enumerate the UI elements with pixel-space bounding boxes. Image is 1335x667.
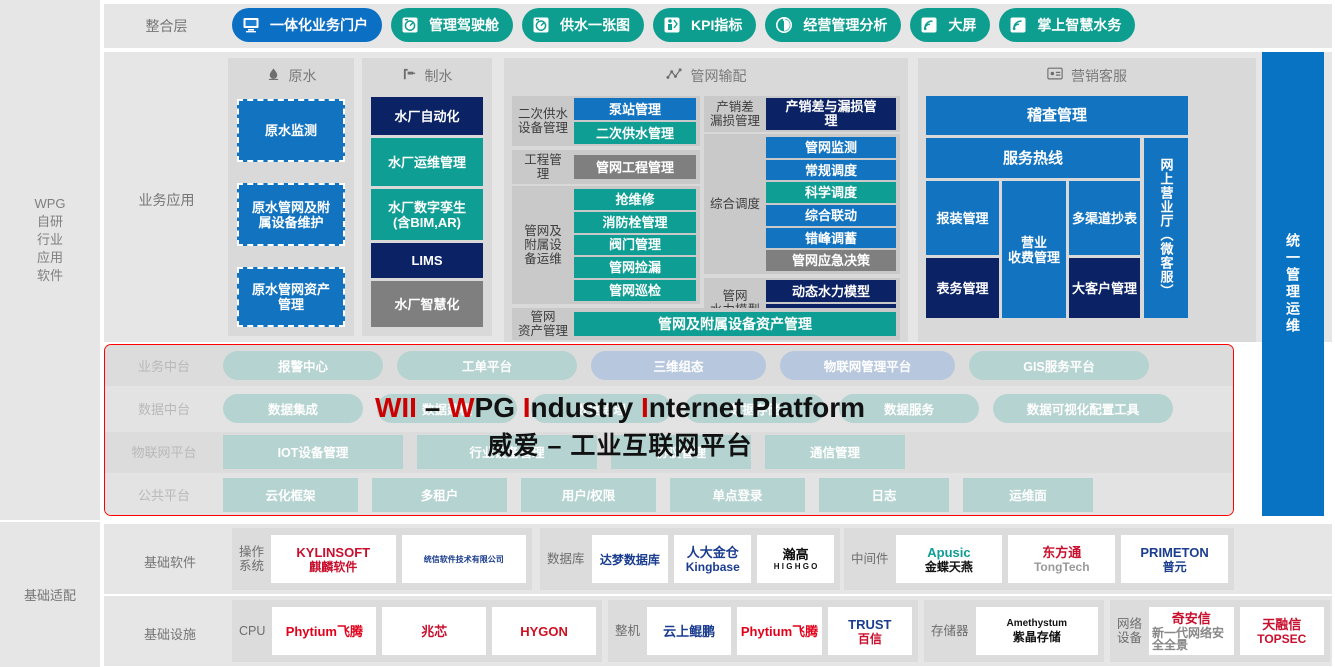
pipe-item-peak-shift[interactable]: 错峰调蓄 <box>766 228 896 249</box>
foundation-group-0-2-label: 中间件 <box>844 552 896 566</box>
service-icon <box>1047 67 1063 85</box>
raw-water-item-2[interactable]: 原水管网资产管理 <box>237 267 345 327</box>
amethystum-logo-line1: Amethystum <box>1006 619 1067 629</box>
monitor-icon <box>239 13 263 37</box>
foundation-group-1-3-label: 网络设备 <box>1110 617 1149 645</box>
pipe-item-peak-shift-label: 错峰调蓄 <box>805 231 857 246</box>
left-rail-wpg: WPG自研行业应用软件 <box>0 0 100 520</box>
yunshang-pengpeng-logo: 云上鲲鹏 <box>647 607 731 655</box>
column-pipe-network: 管网输配 二次供水设备管理 泵站管理 二次供水管理 工程管理 管网工程管理 管网… <box>504 58 908 342</box>
platform-item-3-1[interactable]: 多租户 <box>372 478 507 512</box>
topsec-logo-line2: TOPSEC <box>1257 633 1306 645</box>
foundation-rail-label: 基础适配 <box>24 585 76 604</box>
water-production-item-3[interactable]: LIMS <box>371 243 483 278</box>
left-rail-wpg-label: WPG自研行业应用软件 <box>0 195 100 285</box>
dameng-logo-line2: 达梦数据库 <box>600 554 660 566</box>
platform-row-2-label: 物联网平台 <box>105 442 223 461</box>
ms-item-audit[interactable]: 稽查管理 <box>926 96 1188 135</box>
phytium-logo: Phytium飞腾 <box>272 607 376 655</box>
foundation-group-1-0: CPUPhytium飞腾兆芯HYGON <box>232 600 602 662</box>
column-pipe-network-header: 管网输配 <box>504 58 908 94</box>
platform-item-0-1[interactable]: 工单平台 <box>397 351 577 380</box>
column-pipe-network-title: 管网输配 <box>691 66 747 86</box>
pipe-item-emergency[interactable]: 管网应急决策 <box>766 250 896 271</box>
pipe-item-valve-label: 阀门管理 <box>609 237 661 252</box>
analysis-icon <box>772 13 796 37</box>
ms-item-meter[interactable]: 表务管理 <box>926 258 999 318</box>
pipe-item-leak-label: 管网捡漏 <box>609 260 661 275</box>
water-production-item-4[interactable]: 水厂智慧化 <box>371 281 483 327</box>
network-icon <box>666 67 683 86</box>
kingbase-logo-line1: 人大金仓 <box>687 546 739 559</box>
pipe-item-hydrant-label: 消防栓管理 <box>602 215 667 230</box>
topsec-logo: 天融信TOPSEC <box>1240 607 1325 655</box>
hygon-logo-line1: HYGON <box>520 625 568 638</box>
platform-row-1-label: 数据中台 <box>105 399 223 418</box>
unionTech-logo: 统信软件技术有限公司 <box>402 535 527 583</box>
foundation-group-1-1: 整机云上鲲鹏Phytium飞腾TRUST百信 <box>608 600 918 662</box>
foundation-group-1-2-label: 存储器 <box>924 624 976 638</box>
foundation-group-0-2: 中间件Apusic金蝶天燕东方通TongTechPRIMETON普元 <box>844 528 1234 590</box>
integration-button-2[interactable]: 供水一张图 <box>522 8 644 42</box>
integration-button-3[interactable]: KPI指标 <box>653 8 756 42</box>
column-raw-water: 原水 原水监测 原水管网及附属设备维护 原水管网资产管理 <box>228 58 354 336</box>
pipe-group-dispatch-name: 综合调度 <box>704 134 766 274</box>
ms-item-multichannel-label: 多渠道抄表 <box>1072 211 1137 226</box>
column-marketing-service: 营销客服 稽查管理 服务热线 报装管理 表务管理 营业收费管理 多渠道抄表 大客… <box>918 58 1256 342</box>
water-production-item-2[interactable]: 水厂数字孪生(含BIM,AR) <box>371 189 483 240</box>
pipe-item-linkage[interactable]: 综合联动 <box>766 205 896 226</box>
pipe-group-asset: 管网资产管理 管网及附属设备资产管理 <box>512 308 900 340</box>
pipe-item-nrw[interactable]: 产销差与漏损管理 <box>766 98 896 130</box>
tongtech-logo-line1: 东方通 <box>1042 546 1081 559</box>
unified-ops-bar: 统一管理运维 <box>1262 52 1324 516</box>
water-production-item-2-label: 水厂数字孪生(含BIM,AR) <box>388 200 466 230</box>
platform-row-0: 业务中台报警中心工单平台三维组态物联网管理平台GIS服务平台 <box>105 345 1234 386</box>
integration-button-5[interactable]: 大屏 <box>910 8 990 42</box>
raw-water-item-0-label: 原水监测 <box>265 123 317 138</box>
water-production-item-0-label: 水厂自动化 <box>394 109 459 124</box>
foundation-group-1-3: 网络设备奇安信新一代网络安全全景天融信TOPSEC <box>1110 600 1330 662</box>
hygon-logo: HYGON <box>492 607 596 655</box>
platform-row-3-label: 公共平台 <box>105 485 223 504</box>
trust-baixin-logo-line1: TRUST <box>848 618 891 631</box>
pipe-item-scientific-dispatch[interactable]: 科学调度 <box>766 182 896 203</box>
platform-item-1-1[interactable]: 数据建模 <box>377 394 517 423</box>
platform-item-3-5[interactable]: 运维面 <box>963 478 1093 512</box>
ms-item-key-account[interactable]: 大客户管理 <box>1069 258 1140 318</box>
platform-item-0-4[interactable]: GIS服务平台 <box>969 351 1149 380</box>
foundation-group-0-1: 数据库达梦数据库人大金仓Kingbase瀚高H I G H G O <box>540 528 840 590</box>
pipe-group-nrw: 产销差漏损管理 产销差与漏损管理 <box>704 96 900 132</box>
platform-item-0-3[interactable]: 物联网管理平台 <box>780 351 955 380</box>
water-production-item-1-label: 水厂运维管理 <box>388 155 466 170</box>
integration-button-6-label: 掌上智慧水务 <box>1037 15 1121 35</box>
highgo-logo: 瀚高H I G H G O <box>757 535 834 583</box>
apusic-logo-line1: Apusic <box>927 546 970 559</box>
ms-item-online-hall[interactable]: 网上营业厅（微客服） <box>1144 138 1188 318</box>
raw-water-item-0[interactable]: 原水监测 <box>237 99 345 162</box>
foundation-rail: 基础适配 <box>0 522 100 667</box>
platform-item-1-3[interactable]: 数据存储 <box>685 394 825 423</box>
ms-item-install-label: 报装管理 <box>936 211 988 226</box>
integration-button-0-label: 一体化业务门户 <box>270 15 368 35</box>
platform-item-1-2[interactable]: 数据治理 <box>531 394 671 423</box>
pipe-item-hydrant[interactable]: 消防栓管理 <box>574 212 696 233</box>
platform-item-2-3[interactable]: 通信管理 <box>765 435 905 469</box>
platform-row-2: 物联网平台IOT设备管理行业设备管理协议管理通信管理 <box>105 431 1234 472</box>
tongtech-logo-line2: TongTech <box>1034 561 1090 573</box>
wii-platform-panel: 用户服务及市场拓展部 业务中台报警中心工单平台三维组态物联网管理平台GIS服务平… <box>104 344 1234 516</box>
unified-ops-bar-label: 统一管理运维 <box>1283 233 1303 335</box>
platform-item-1-5[interactable]: 数据可视化配置工具 <box>993 394 1173 423</box>
zhaoxin-logo: 兆芯 <box>382 607 486 655</box>
highgo-logo-line2: H I G H G O <box>774 563 818 571</box>
foundation-group-0-0: 操作系统KYLINSOFT麒麟软件统信软件技术有限公司 <box>232 528 532 590</box>
platform-item-3-3[interactable]: 单点登录 <box>670 478 805 512</box>
pipe-item-scientific-dispatch-label: 科学调度 <box>805 185 857 200</box>
qianxin-logo-line1: 奇安信 <box>1172 612 1211 625</box>
integration-button-4-label: 经营管理分析 <box>803 15 887 35</box>
trust-baixin-logo-line2: 百信 <box>858 633 882 645</box>
foundation-group-0-1-label: 数据库 <box>540 552 592 566</box>
integration-button-6[interactable]: 掌上智慧水务 <box>999 8 1135 42</box>
raw-water-item-1-label: 原水管网及附属设备维护 <box>252 200 330 230</box>
highgo-logo-line1: 瀚高 <box>783 548 809 561</box>
pipe-item-leak[interactable]: 管网捡漏 <box>574 257 696 278</box>
integration-button-3-label: KPI指标 <box>691 15 742 35</box>
kingbase-logo: 人大金仓Kingbase <box>674 535 751 583</box>
pipe-item-pipe-engineering-label: 管网工程管理 <box>596 160 674 175</box>
qianxin-logo: 奇安信新一代网络安全全景 <box>1149 607 1234 655</box>
pipe-item-monitor-label: 管网监测 <box>805 140 857 155</box>
business-application-label: 业务应用 <box>104 190 229 210</box>
phytium-logo-2-line1: Phytium飞腾 <box>741 625 818 638</box>
kylinsoft-logo-line1: KYLINSOFT <box>296 546 370 559</box>
pipe-group-engineering-name: 工程管理 <box>512 150 574 184</box>
pipe-item-routine-dispatch[interactable]: 常规调度 <box>766 160 896 181</box>
pipe-item-secondary-supply-label: 二次供水管理 <box>596 126 674 141</box>
pipe-item-repair-label: 抢维修 <box>615 192 654 207</box>
water-production-item-3-label: LIMS <box>411 253 442 268</box>
apusic-logo-line2: 金蝶天燕 <box>925 561 973 573</box>
platform-row-1: 数据中台数据集成数据建模数据治理数据存储数据服务数据可视化配置工具 <box>105 388 1234 429</box>
dashboard-icon <box>398 13 422 37</box>
platform-row-0-label: 业务中台 <box>105 356 223 375</box>
pipe-item-pump-station[interactable]: 泵站管理 <box>574 98 696 120</box>
primeton-logo: PRIMETON普元 <box>1121 535 1228 583</box>
map-icon <box>529 13 553 37</box>
pipe-item-routine-dispatch-label: 常规调度 <box>805 163 857 178</box>
ms-item-hotline-label: 服务热线 <box>1003 151 1063 166</box>
ms-item-audit-label: 稽查管理 <box>1027 108 1087 123</box>
primeton-logo-line2: 普元 <box>1163 561 1187 573</box>
qianxin-logo-line2: 新一代网络安全全景 <box>1152 627 1231 651</box>
pipe-item-valve[interactable]: 阀门管理 <box>574 235 696 256</box>
integration-button-4[interactable]: 经营管理分析 <box>765 8 901 42</box>
pipe-item-monitor[interactable]: 管网监测 <box>766 137 896 158</box>
yunshang-pengpeng-logo-line1: 云上鲲鹏 <box>663 625 715 638</box>
pipe-item-secondary-supply[interactable]: 二次供水管理 <box>574 122 696 144</box>
mobile-icon <box>1006 13 1030 37</box>
pipe-item-dynamic-model[interactable]: 动态水力模型 <box>766 280 896 302</box>
tongtech-logo: 东方通TongTech <box>1008 535 1115 583</box>
raw-water-item-1[interactable]: 原水管网及附属设备维护 <box>237 183 345 246</box>
column-raw-water-header: 原水 <box>228 58 354 94</box>
foundation-row-label-0: 基础软件 <box>115 552 225 571</box>
pipe-group-secondary-supply-name: 二次供水设备管理 <box>512 96 574 146</box>
pipe-group-om: 管网及附属设备运维 抢维修 消防栓管理 阀门管理 管网捡漏 管网巡检 <box>512 186 700 304</box>
platform-item-2-0[interactable]: IOT设备管理 <box>223 435 403 469</box>
pipe-group-secondary-supply: 二次供水设备管理 泵站管理 二次供水管理 <box>512 96 700 146</box>
platform-item-2-1[interactable]: 行业设备管理 <box>417 435 597 469</box>
ms-item-install[interactable]: 报装管理 <box>926 181 999 255</box>
column-water-production-title: 制水 <box>425 66 453 86</box>
column-water-production: 制水 水厂自动化 水厂运维管理 水厂数字孪生(含BIM,AR) LIMS 水厂智… <box>362 58 492 336</box>
integration-layer-label: 整合层 <box>104 16 229 36</box>
pipe-group-engineering: 工程管理 管网工程管理 <box>512 150 700 184</box>
ms-item-hotline[interactable]: 服务热线 <box>926 138 1140 178</box>
platform-item-0-0[interactable]: 报警中心 <box>223 351 383 380</box>
pipe-group-asset-name: 管网资产管理 <box>512 308 574 340</box>
faucet-icon <box>402 67 417 86</box>
pipe-group-dispatch: 综合调度 管网监测 常规调度 科学调度 综合联动 错峰调蓄 管网应急决策 <box>704 134 900 274</box>
apusic-logo: Apusic金蝶天燕 <box>896 535 1003 583</box>
platform-item-0-2[interactable]: 三维组态 <box>591 351 766 380</box>
unionTech-logo-line2: 统信软件技术有限公司 <box>424 556 504 564</box>
primeton-logo-line1: PRIMETON <box>1140 546 1208 559</box>
column-raw-water-title: 原水 <box>289 66 317 86</box>
screen-icon <box>917 13 941 37</box>
platform-item-2-2[interactable]: 协议管理 <box>611 435 751 469</box>
pipe-item-emergency-label: 管网应急决策 <box>792 253 870 268</box>
platform-item-3-0[interactable]: 云化框架 <box>223 478 358 512</box>
pipe-item-linkage-label: 综合联动 <box>805 208 857 223</box>
topsec-logo-line1: 天融信 <box>1262 618 1301 631</box>
amethystum-logo-line2: 紫晶存储 <box>1013 631 1061 643</box>
pipe-item-inspection-label: 管网巡检 <box>609 283 661 298</box>
integration-button-0[interactable]: 一体化业务门户 <box>232 8 382 42</box>
ms-item-multichannel[interactable]: 多渠道抄表 <box>1069 181 1140 255</box>
ms-item-meter-label: 表务管理 <box>936 281 988 296</box>
foundation-row-label-1: 基础设施 <box>115 624 225 643</box>
pipe-item-pump-station-label: 泵站管理 <box>609 102 661 117</box>
zhaoxin-logo-line1: 兆芯 <box>421 625 447 638</box>
phytium-logo-line1: Phytium飞腾 <box>286 625 363 638</box>
phytium-logo-2: Phytium飞腾 <box>737 607 821 655</box>
kylinsoft-logo: KYLINSOFT麒麟软件 <box>271 535 396 583</box>
pipe-item-asset-mgmt[interactable]: 管网及附属设备资产管理 <box>574 312 896 336</box>
ms-item-billing[interactable]: 营业收费管理 <box>1002 181 1066 318</box>
column-marketing-service-title: 营销客服 <box>1071 66 1127 86</box>
platform-item-1-0[interactable]: 数据集成 <box>223 394 363 423</box>
pipe-group-om-name: 管网及附属设备运维 <box>512 186 574 304</box>
platform-row-3: 公共平台云化框架多租户用户/权限单点登录日志运维面 <box>105 474 1234 515</box>
integration-button-1-label: 管理驾驶舱 <box>429 15 499 35</box>
pipe-item-nrw-label: 产销差与漏损管理 <box>785 100 876 128</box>
column-water-production-header: 制水 <box>362 58 492 94</box>
pipe-item-pipe-engineering[interactable]: 管网工程管理 <box>574 155 696 179</box>
raw-water-item-2-label: 原水管网资产管理 <box>252 282 330 312</box>
water-drop-icon <box>266 67 281 86</box>
dameng-logo: 达梦数据库 <box>592 535 669 583</box>
foundation-group-0-0-label: 操作系统 <box>232 545 271 573</box>
pipe-group-nrw-name: 产销差漏损管理 <box>704 96 766 132</box>
ms-item-billing-label: 营业收费管理 <box>1008 235 1060 265</box>
amethystum-logo: Amethystum紫晶存储 <box>976 607 1098 655</box>
foundation-group-1-0-label: CPU <box>232 624 272 638</box>
foundation-group-1-1-label: 整机 <box>608 624 647 638</box>
trust-baixin-logo: TRUST百信 <box>828 607 912 655</box>
pipe-item-asset-mgmt-label: 管网及附属设备资产管理 <box>658 317 812 332</box>
pipe-item-dynamic-model-label: 动态水力模型 <box>792 284 870 299</box>
water-production-item-0[interactable]: 水厂自动化 <box>371 97 483 135</box>
pipe-item-inspection[interactable]: 管网巡检 <box>574 280 696 301</box>
ms-item-online-hall-label: 网上营业厅（微客服） <box>1159 158 1174 298</box>
pipe-item-repair[interactable]: 抢维修 <box>574 189 696 210</box>
integration-button-1[interactable]: 管理驾驶舱 <box>391 8 513 42</box>
platform-item-3-4[interactable]: 日志 <box>819 478 949 512</box>
kpi-icon <box>660 13 684 37</box>
integration-button-5-label: 大屏 <box>948 15 976 35</box>
foundation-group-1-2: 存储器Amethystum紫晶存储 <box>924 600 1104 662</box>
ms-item-key-account-label: 大客户管理 <box>1072 281 1137 296</box>
water-production-item-1[interactable]: 水厂运维管理 <box>371 138 483 186</box>
integration-buttons: 一体化业务门户管理驾驶舱供水一张图KPI指标经营管理分析大屏掌上智慧水务 <box>232 8 1135 42</box>
kylinsoft-logo-line2: 麒麟软件 <box>309 561 357 573</box>
platform-item-1-4[interactable]: 数据服务 <box>839 394 979 423</box>
integration-button-2-label: 供水一张图 <box>560 15 630 35</box>
kingbase-logo-line2: Kingbase <box>686 561 740 573</box>
water-production-item-4-label: 水厂智慧化 <box>394 297 459 312</box>
column-marketing-service-header: 营销客服 <box>918 58 1256 94</box>
platform-item-3-2[interactable]: 用户/权限 <box>521 478 656 512</box>
